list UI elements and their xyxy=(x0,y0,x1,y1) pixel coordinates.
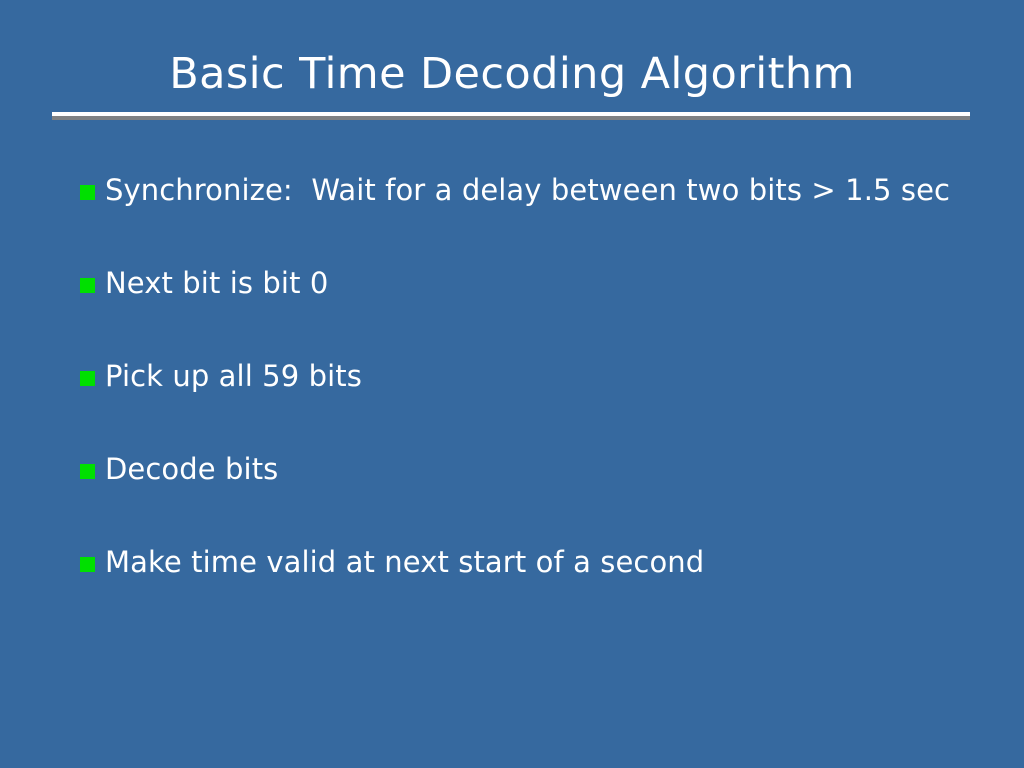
list-item: Decode bits xyxy=(80,451,980,488)
list-item: Pick up all 59 bits xyxy=(80,358,980,395)
list-item: Make time valid at next start of a secon… xyxy=(80,544,980,581)
list-item-label: Decode bits xyxy=(105,451,980,488)
list-item-label: Make time valid at next start of a secon… xyxy=(105,544,980,581)
list-item-label: Pick up all 59 bits xyxy=(105,358,980,395)
slide-title-block: Basic Time Decoding Algorithm xyxy=(0,48,1024,100)
square-bullet-icon xyxy=(80,371,95,386)
square-bullet-icon xyxy=(80,185,95,200)
page-title: Basic Time Decoding Algorithm xyxy=(0,48,1024,100)
bullet-list: Synchronize: Wait for a delay between tw… xyxy=(80,172,980,581)
title-divider xyxy=(52,112,970,120)
list-item-label: Synchronize: Wait for a delay between tw… xyxy=(105,172,955,209)
square-bullet-icon xyxy=(80,464,95,479)
title-divider-shadow xyxy=(52,116,970,120)
list-item: Next bit is bit 0 xyxy=(80,265,980,302)
list-item: Synchronize: Wait for a delay between tw… xyxy=(80,172,955,209)
square-bullet-icon xyxy=(80,278,95,293)
square-bullet-icon xyxy=(80,557,95,572)
list-item-label: Next bit is bit 0 xyxy=(105,265,980,302)
presentation-slide: Basic Time Decoding Algorithm Synchroniz… xyxy=(0,0,1024,768)
